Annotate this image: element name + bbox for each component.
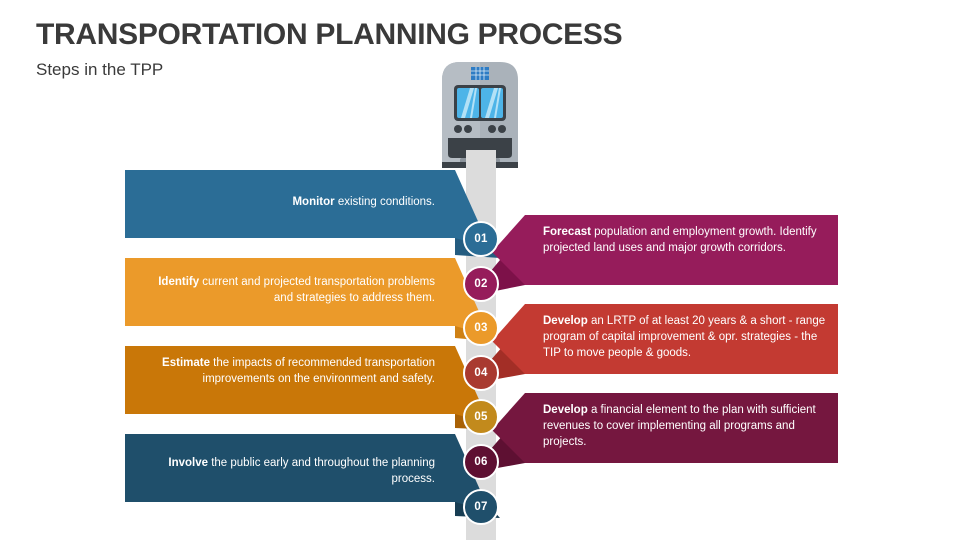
step-rest-01: existing conditions.	[335, 196, 435, 208]
step-text-01: Monitor existing conditions.	[140, 194, 435, 210]
step-text-05: Estimate the impacts of recommended tran…	[140, 355, 435, 387]
step-badge-02[interactable]: 02	[463, 266, 499, 302]
step-lead-07: Involve	[168, 457, 208, 469]
infographic-canvas: TRANSPORTATION PLANNING PROCESS Steps in…	[0, 0, 960, 540]
step-text-07: Involve the public early and throughout …	[140, 455, 435, 487]
step-lead-05: Estimate	[162, 357, 210, 369]
step-badge-05[interactable]: 05	[463, 399, 499, 435]
step-badge-01[interactable]: 01	[463, 221, 499, 257]
step-badge-07[interactable]: 07	[463, 489, 499, 525]
step-badge-03[interactable]: 03	[463, 310, 499, 346]
step-text-02: Forecast population and employment growt…	[543, 224, 828, 256]
step-text-04: Develop an LRTP of at least 20 years & a…	[543, 313, 828, 361]
step-bar-01[interactable]	[125, 170, 500, 258]
step-lead-03: Identify	[158, 276, 199, 288]
step-text-06: Develop a financial element to the plan …	[543, 402, 828, 450]
step-lead-01: Monitor	[292, 196, 334, 208]
step-badge-06[interactable]: 06	[463, 444, 499, 480]
step-badge-04[interactable]: 04	[463, 355, 499, 391]
step-lead-04: Develop	[543, 315, 588, 327]
step-text-03: Identify current and projected transport…	[140, 274, 435, 306]
step-rest-05: the impacts of recommended transportatio…	[203, 357, 435, 385]
step-lead-02: Forecast	[543, 226, 591, 238]
step-lead-06: Develop	[543, 404, 588, 416]
step-rest-03: current and projected transportation pro…	[199, 276, 435, 304]
step-rest-07: the public early and throughout the plan…	[208, 457, 435, 485]
